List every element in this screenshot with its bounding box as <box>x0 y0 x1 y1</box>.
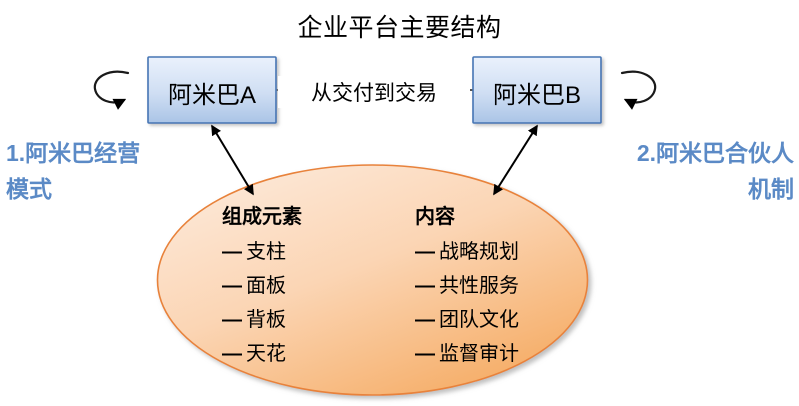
list-item: — 共性服务 <box>415 269 519 303</box>
dash-bullet: — <box>222 235 246 269</box>
list-item-label: 背板 <box>246 303 286 337</box>
caption-amoeba-partner-mechanism: 2.阿米巴合伙人机制 <box>626 135 794 207</box>
list-item: — 支柱 <box>222 235 302 269</box>
list-item-label: 面板 <box>246 269 286 303</box>
list-item: — 监督审计 <box>415 337 519 371</box>
column-title-elements: 组成元素 <box>222 200 302 229</box>
arrow-amoeba-b-to-ellipse <box>494 126 537 194</box>
list-item-label: 天花 <box>246 337 286 371</box>
amoeba-b-label: 阿米巴B <box>473 75 601 110</box>
list-item-label: 战略规划 <box>439 235 519 269</box>
elements-list: — 支柱 — 面板 — 背板 — 天花 <box>222 235 302 371</box>
ellipse-column-content: 内容 — 战略规划 — 共性服务 — 团队文化 — 监督审计 <box>415 200 519 371</box>
list-item: — 天花 <box>222 337 302 371</box>
ellipse-column-elements: 组成元素 — 支柱 — 面板 — 背板 — 天花 <box>222 200 302 371</box>
content-list: — 战略规划 — 共性服务 — 团队文化 — 监督审计 <box>415 235 519 371</box>
list-item-label: 支柱 <box>246 235 286 269</box>
dash-bullet: — <box>415 269 439 303</box>
curved-arrow-left-icon <box>95 72 128 103</box>
list-item: — 战略规划 <box>415 235 519 269</box>
dash-bullet: — <box>222 303 246 337</box>
dash-bullet: — <box>415 303 439 337</box>
dash-bullet: — <box>415 337 439 371</box>
list-item-label: 监督审计 <box>439 337 519 371</box>
diagram-canvas: 企业平台主要结构 阿米巴A 阿米巴B 从交付到交易 1.阿米巴经营模式 2.阿米… <box>0 0 799 406</box>
list-item-label: 团队文化 <box>439 303 519 337</box>
arrow-amoeba-a-to-ellipse <box>212 126 253 194</box>
amoeba-a-label: 阿米巴A <box>148 75 276 110</box>
list-item: — 背板 <box>222 303 302 337</box>
list-item-label: 共性服务 <box>439 269 519 303</box>
list-item: — 面板 <box>222 269 302 303</box>
curved-arrow-right-icon <box>622 72 655 103</box>
column-title-content: 内容 <box>415 200 519 229</box>
page-title: 企业平台主要结构 <box>0 8 799 44</box>
dash-bullet: — <box>415 235 439 269</box>
list-item: — 团队文化 <box>415 303 519 337</box>
dash-bullet: — <box>222 337 246 371</box>
dash-bullet: — <box>222 269 246 303</box>
caption-amoeba-business-model: 1.阿米巴经营模式 <box>6 135 146 207</box>
connector-label: 从交付到交易 <box>278 76 470 108</box>
